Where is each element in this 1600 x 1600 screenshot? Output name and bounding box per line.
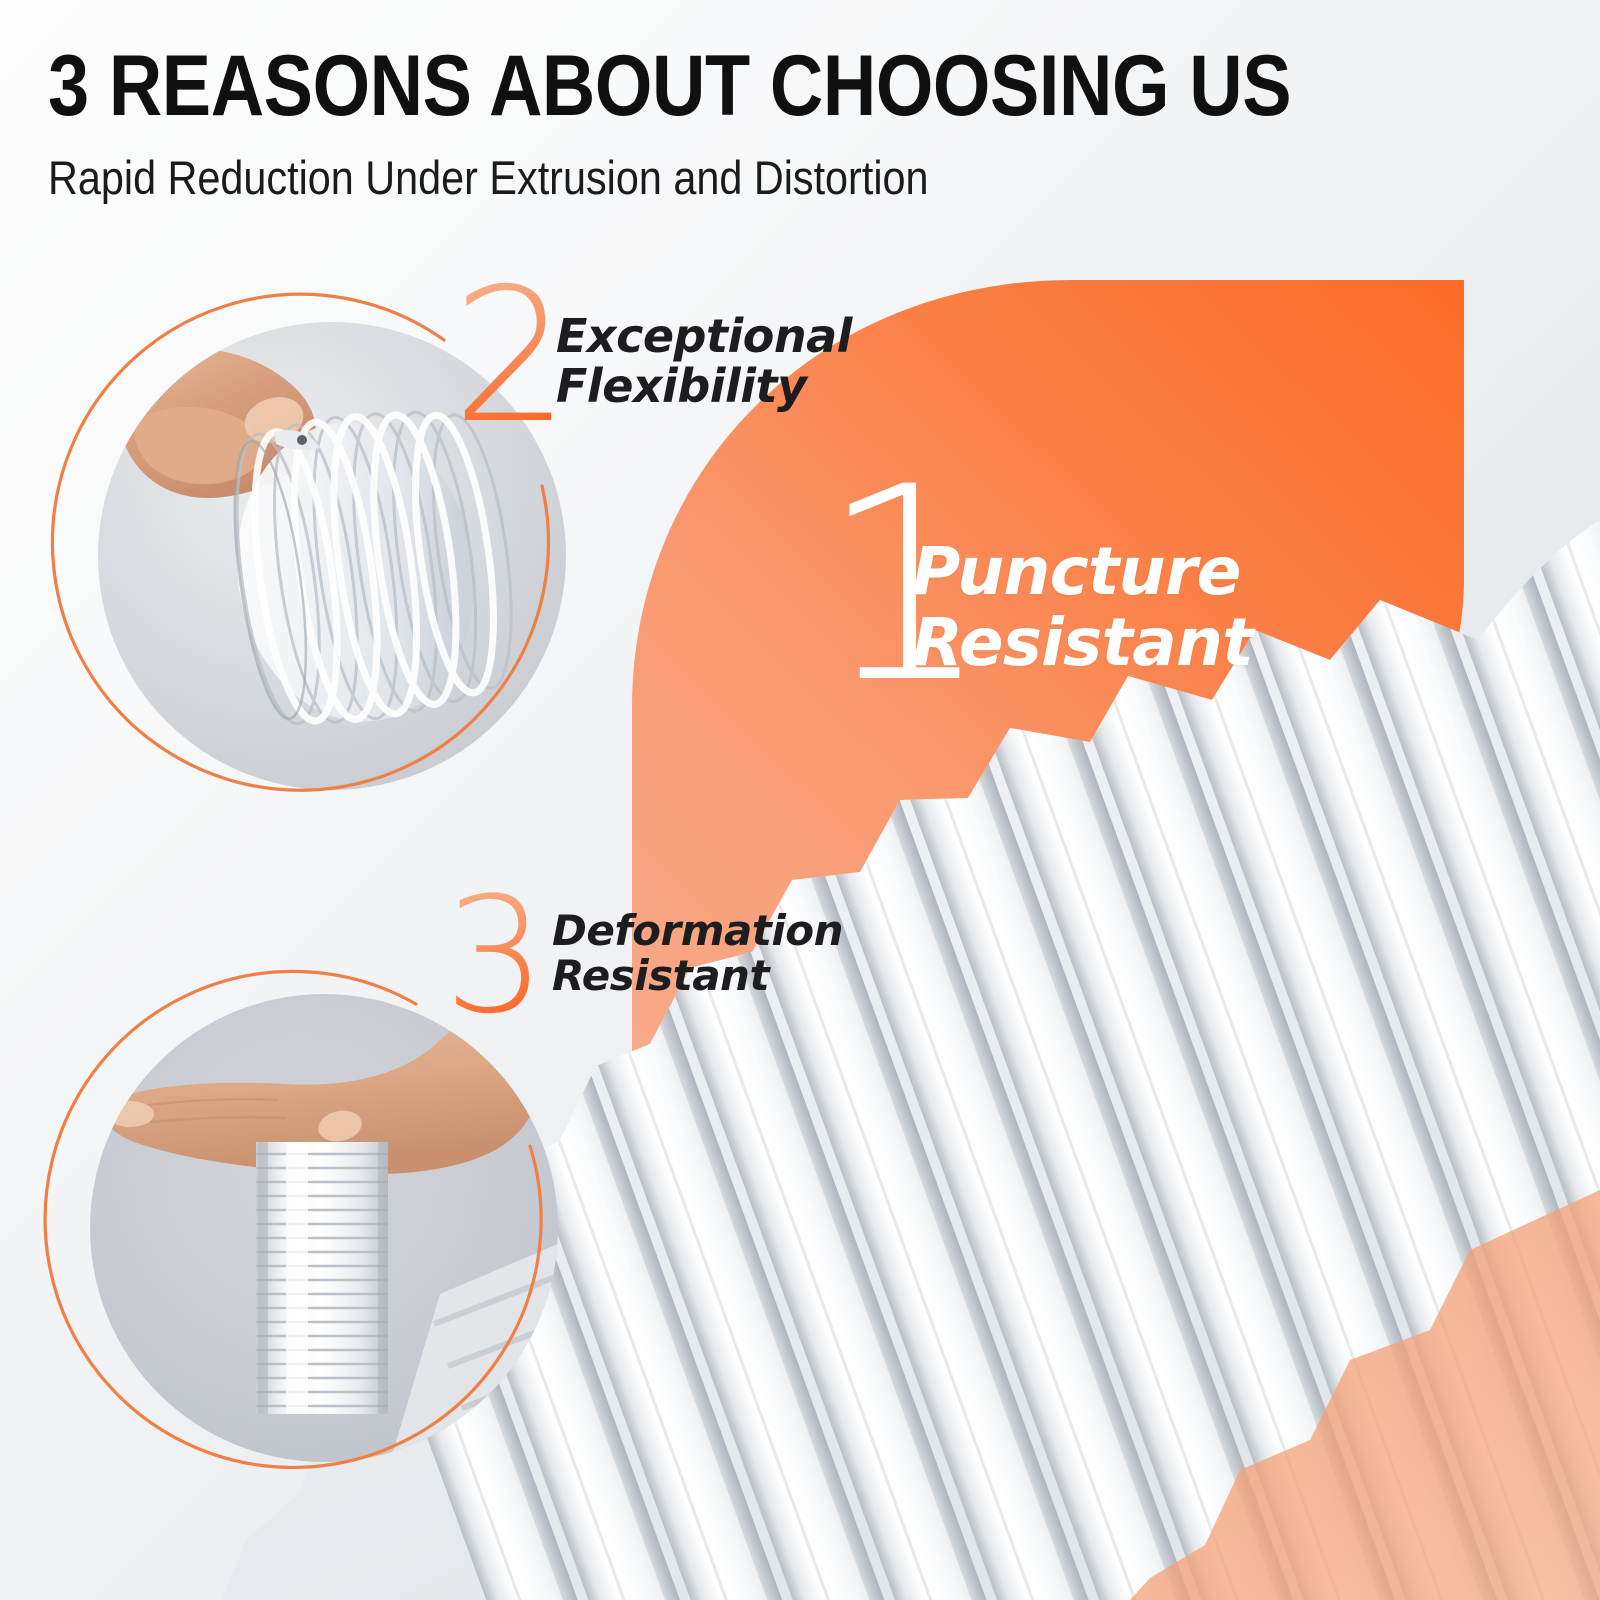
feature-number-3: 3 [444, 876, 546, 1036]
feature-label-line1: Exceptional [556, 312, 852, 362]
feature-label-line2: Resistant [912, 607, 1253, 678]
feature-label-puncture-resistant: Puncture Resistant [912, 536, 1253, 679]
feature-label-line2: Resistant [552, 953, 843, 998]
feature-number-2: 2 [452, 264, 570, 449]
infographic-canvas: 3 REASONS ABOUT CHOOSING US Rapid Reduct… [0, 0, 1600, 1600]
feature-label-line1: Deformation [552, 908, 843, 953]
header-block: 3 REASONS ABOUT CHOOSING US Rapid Reduct… [48, 44, 1448, 201]
feature-label-line2: Flexibility [556, 362, 852, 412]
feature-label-exceptional-flexibility: Exceptional Flexibility [556, 312, 852, 411]
page-subtitle: Rapid Reduction Under Extrusion and Dist… [48, 128, 1280, 201]
feature-label-line1: Puncture [912, 536, 1253, 607]
page-title: 3 REASONS ABOUT CHOOSING US [48, 44, 1252, 128]
feature-label-deformation-resistant: Deformation Resistant [552, 908, 843, 999]
